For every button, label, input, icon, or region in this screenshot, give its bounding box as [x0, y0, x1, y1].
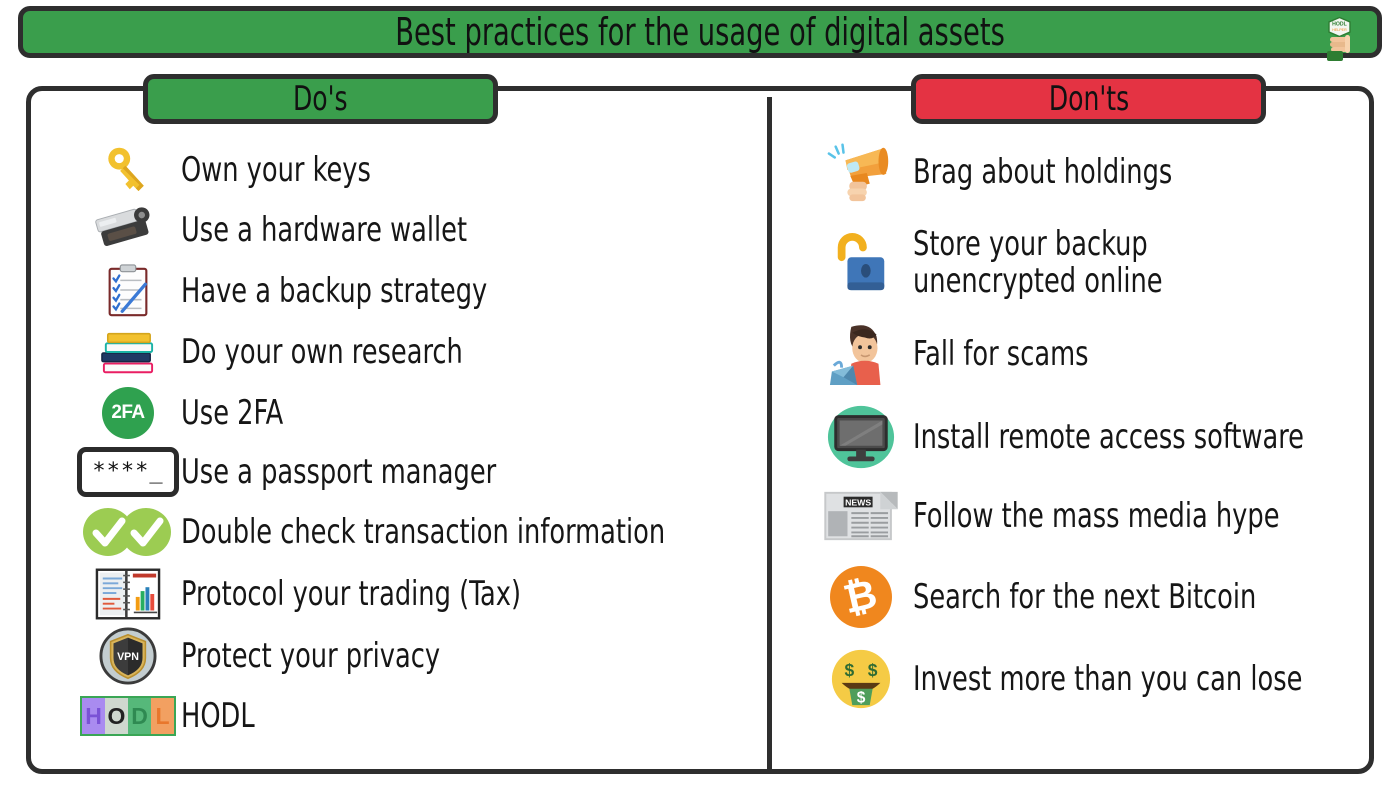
list-item[interactable]: Store your backup unencrypted online	[808, 219, 1368, 307]
open-padlock-icon	[808, 219, 913, 307]
list-item-label: Fall for scams	[913, 337, 1088, 372]
page-title-bar: Best practices for the usage of digital …	[18, 6, 1382, 58]
money-mouth-face-icon: $ $ $	[808, 643, 913, 715]
key-icon	[75, 139, 181, 201]
list-item[interactable]: ₿ Search for the next Bitcoin	[808, 561, 1368, 633]
svg-text:HELPER: HELPER	[1332, 28, 1347, 32]
list-item-label: Invest more than you can lose	[913, 662, 1302, 697]
list-item[interactable]: Own your keys	[75, 139, 755, 201]
newspaper-icon-text: NEWS	[845, 498, 871, 508]
list-item[interactable]: Fall for scams	[808, 317, 1368, 391]
double-checkmark-icon	[75, 501, 181, 563]
vpn-shield-icon-text: VPN	[117, 651, 139, 663]
password-field-icon-text: ****_	[92, 461, 163, 483]
list-item-label: Use a hardware wallet	[181, 213, 467, 248]
list-item[interactable]: Use a hardware wallet	[75, 201, 755, 259]
bitcoin-coin-icon: ₿	[808, 561, 913, 633]
two-factor-auth-icon-text: 2FA	[111, 402, 144, 424]
two-factor-auth-icon: 2FA	[75, 383, 181, 443]
list-item[interactable]: Install remote access software	[808, 399, 1388, 475]
list-item-label: Brag about holdings	[913, 155, 1172, 190]
list-item-label: Protect your privacy	[181, 639, 440, 674]
svg-text:$: $	[844, 660, 854, 680]
list-item[interactable]: H O D L HODL	[75, 687, 755, 745]
page-title: Best practices for the usage of digital …	[395, 13, 1005, 51]
svg-text:$: $	[867, 660, 877, 680]
vpn-shield-icon: VPN	[75, 625, 181, 687]
newspaper-icon: NEWS	[808, 481, 913, 551]
password-field-icon: ****_	[75, 443, 181, 501]
svg-text:HODL: HODL	[1332, 22, 1348, 28]
list-item[interactable]: VPN Protect your privacy	[75, 625, 755, 687]
list-item-label: Use a passport manager	[181, 455, 496, 490]
list-item-label: Protocol your trading (Tax)	[181, 577, 521, 612]
hodl-helper-hand-sign-logo: HODL HELPER	[1317, 15, 1363, 61]
list-item-label: Own your keys	[181, 153, 371, 188]
clipboard-checklist-icon	[75, 261, 181, 321]
donts-badge-label: Don'ts	[1048, 82, 1128, 116]
list-item[interactable]: Double check transaction information	[75, 501, 765, 563]
stack-of-books-icon	[75, 322, 181, 382]
list-item-label: Double check transaction information	[181, 515, 665, 550]
content-panel: Own your keys Use a hardware wallet	[26, 86, 1374, 774]
list-item[interactable]: Protocol your trading (Tax)	[75, 563, 755, 625]
list-item[interactable]: Have a backup strategy	[75, 261, 755, 321]
hodl-letters-icon: H O D L	[75, 687, 181, 745]
list-item-label: Follow the mass media hype	[913, 499, 1280, 534]
donts-column: Brag about holdings Store your backup un…	[772, 91, 1374, 769]
list-item[interactable]: NEWS Follow the mass media hype	[808, 481, 1368, 551]
list-item-label: Install remote access software	[913, 420, 1304, 455]
dos-column: Own your keys Use a hardware wallet	[31, 91, 767, 769]
list-item-label: Use 2FA	[181, 396, 283, 431]
desktop-monitor-icon	[808, 399, 913, 475]
list-item-label: Store your backup unencrypted online	[913, 226, 1163, 301]
ledger-notebook-chart-icon	[75, 563, 181, 625]
dos-badge-label: Do's	[293, 82, 348, 116]
list-item-label: Have a backup strategy	[181, 274, 487, 309]
bitcoin-coin-icon-text: ₿	[840, 574, 881, 620]
hardware-wallet-icon	[75, 201, 181, 259]
list-item-label: Do your own research	[181, 335, 463, 370]
list-item[interactable]: 2FA Use 2FA	[75, 383, 755, 443]
list-item[interactable]: Do your own research	[75, 322, 755, 382]
list-item-label: Search for the next Bitcoin	[913, 580, 1256, 615]
svg-text:$: $	[856, 689, 865, 706]
list-item-label: HODL	[181, 699, 255, 734]
list-item[interactable]: ****_ Use a passport manager	[75, 443, 755, 501]
phishing-scam-person-icon	[808, 317, 913, 391]
megaphone-icon	[808, 135, 913, 209]
dos-column-header-badge[interactable]: Do's	[143, 74, 498, 124]
list-item[interactable]: Brag about holdings	[808, 135, 1368, 209]
donts-column-header-badge[interactable]: Don'ts	[911, 74, 1266, 124]
list-item[interactable]: $ $ $ Invest more than you can lose	[808, 643, 1388, 715]
